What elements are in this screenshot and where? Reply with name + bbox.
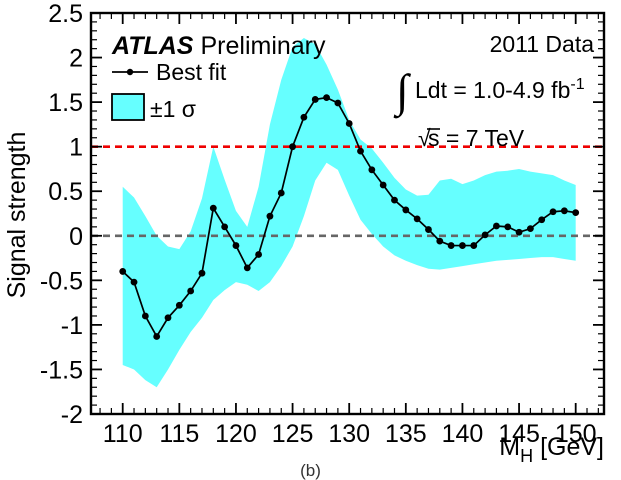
- y-tick-label: 0: [69, 223, 83, 251]
- legend: Best fit ±1 σ: [112, 59, 227, 122]
- legend-marker-icon: [127, 69, 133, 75]
- data-point: [391, 197, 398, 204]
- data-point: [334, 100, 341, 107]
- y-tick-label: 1: [69, 134, 83, 162]
- y-axis-title: Signal strength: [3, 132, 31, 299]
- energy-label-group: √ s = 7 TeV: [418, 125, 525, 151]
- experiment-label: ATLAS: [111, 32, 194, 60]
- data-point: [142, 313, 149, 320]
- y-tick-label: -0.5: [40, 267, 83, 295]
- y-tick-labels: -2-1.5-1-0.500.511.522.5: [40, 0, 83, 429]
- data-point: [267, 213, 274, 220]
- legend-item-best-fit: Best fit: [112, 59, 227, 85]
- data-point: [482, 231, 489, 238]
- data-point: [119, 268, 126, 275]
- x-tick-label: 130: [328, 420, 370, 448]
- luminosity-label: Ldt = 1.0-4.9 fb-1: [415, 76, 585, 103]
- data-point: [131, 279, 138, 286]
- luminosity-text: Ldt = 1.0-4.9 fb: [415, 77, 570, 103]
- atlas-label-group: ATLASPreliminary: [111, 32, 326, 60]
- x-tick-label: 115: [159, 420, 199, 448]
- data-point: [414, 215, 421, 222]
- data-point: [561, 207, 568, 214]
- legend-swatch-icon: [112, 94, 144, 120]
- dataset-label: 2011 Data: [490, 31, 595, 57]
- data-point: [301, 114, 308, 121]
- data-point: [380, 182, 387, 189]
- data-point: [323, 94, 330, 101]
- data-point: [550, 208, 557, 215]
- legend-label-best-fit: Best fit: [156, 59, 227, 85]
- y-tick-label: 1.5: [48, 89, 83, 117]
- legend-item-one-sigma: ±1 σ: [112, 94, 196, 122]
- data-point: [448, 242, 455, 249]
- data-point: [425, 226, 432, 233]
- data-point: [289, 143, 296, 150]
- signal-strength-plot: 110115120125130135140145150 -2-1.5-1-0.5…: [0, 0, 621, 480]
- figure-root: 110115120125130135140145150 -2-1.5-1-0.5…: [0, 0, 621, 480]
- data-point: [233, 242, 240, 249]
- data-point: [176, 302, 183, 309]
- data-point: [346, 120, 353, 127]
- data-point: [436, 238, 443, 245]
- data-point: [199, 270, 206, 277]
- data-point: [538, 216, 545, 223]
- data-point: [516, 229, 523, 236]
- data-point: [504, 223, 511, 230]
- x-tick-label: 125: [272, 420, 314, 448]
- x-axis-title-unit: [GeV]: [533, 433, 604, 461]
- figure-caption: (b): [0, 461, 621, 480]
- x-tick-label: 140: [442, 420, 484, 448]
- data-point: [187, 288, 194, 295]
- data-point: [470, 242, 477, 249]
- data-point: [278, 190, 285, 197]
- y-tick-label: -1.5: [40, 356, 83, 384]
- y-tick-label: 2: [69, 45, 83, 73]
- integral-icon: ∫: [393, 65, 411, 119]
- data-point: [459, 242, 466, 249]
- x-axis-title-base: M: [499, 433, 520, 461]
- energy-label: s = 7 TeV: [428, 125, 525, 151]
- data-point: [493, 223, 500, 230]
- data-point: [368, 166, 375, 173]
- x-tick-label: 120: [215, 420, 257, 448]
- status-label: Preliminary: [200, 32, 326, 60]
- y-tick-label: -1: [61, 312, 83, 340]
- data-point: [165, 314, 172, 321]
- data-point: [210, 205, 217, 212]
- data-point: [357, 148, 364, 155]
- x-tick-label: 135: [385, 420, 427, 448]
- figure-caption-text: (b): [300, 461, 321, 480]
- data-point: [255, 251, 262, 258]
- data-point: [244, 264, 251, 271]
- x-tick-labels: 110115120125130135140145150: [103, 420, 597, 448]
- luminosity-exponent: -1: [570, 76, 584, 93]
- data-point: [312, 96, 319, 103]
- data-point: [153, 333, 160, 340]
- y-tick-label: -2: [61, 401, 83, 429]
- legend-label-one-sigma: ±1 σ: [150, 96, 196, 122]
- data-point: [221, 223, 228, 230]
- data-point: [402, 207, 409, 214]
- data-point: [527, 225, 534, 232]
- y-tick-label: 2.5: [48, 0, 83, 28]
- data-point: [572, 209, 579, 216]
- y-tick-label: 0.5: [48, 178, 83, 206]
- x-tick-label: 110: [103, 420, 143, 448]
